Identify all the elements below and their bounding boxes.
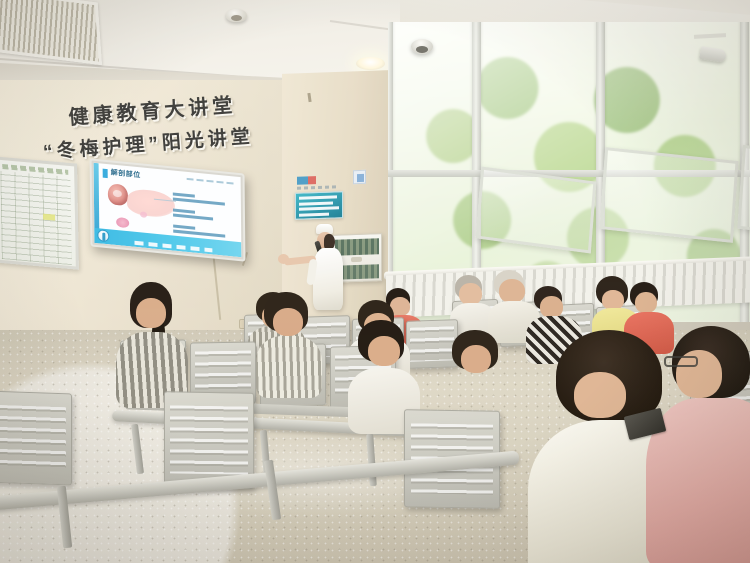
seat-back[interactable] (0, 390, 72, 485)
recessed-downlight (356, 57, 385, 70)
smoke-detector-icon (226, 9, 247, 22)
nurse-uniform-body (313, 248, 343, 310)
panel-knob (351, 257, 362, 262)
scene-photo: 健康教育大讲堂 “冬梅护理”阳光讲堂 解剖部位 (0, 0, 750, 563)
person-head (540, 296, 563, 318)
dome-security-camera-icon (411, 39, 433, 54)
anatomy-head-illustration (108, 183, 128, 206)
slide-title-marker (103, 169, 108, 179)
sign-line-4 (299, 212, 329, 216)
person-head (461, 345, 491, 373)
footer-caption-text (134, 241, 212, 253)
person-head (273, 308, 303, 336)
slide-bullet-1 (173, 193, 233, 207)
anatomy-marker-2 (140, 211, 147, 218)
nurse-pointing-hand (278, 254, 289, 264)
sign-line-3 (299, 206, 339, 210)
awning-window-panel-2[interactable] (599, 147, 738, 243)
sign-line-1 (299, 195, 337, 199)
slide-bullet-2 (173, 209, 233, 223)
eyeglasses-icon (664, 356, 698, 367)
seat-back[interactable] (406, 319, 458, 369)
chart-grid (0, 171, 72, 265)
tv-screen: 解剖部位 (94, 163, 242, 258)
anatomy-marker-1 (116, 217, 129, 228)
sign-header-strip (297, 175, 341, 185)
small-blue-wall-plate (353, 170, 366, 184)
sign-line-2 (299, 201, 333, 205)
presentation-tv[interactable]: 解剖部位 (90, 158, 246, 261)
person-head (499, 279, 525, 303)
person-head (136, 298, 166, 328)
person-head (602, 290, 624, 310)
anatomy-body-illustration (127, 188, 175, 219)
awning-window-panel-1[interactable] (476, 167, 597, 254)
person-torso (442, 372, 512, 430)
slide-subtitle-text (187, 178, 235, 185)
hospital-logo-icon (97, 229, 109, 242)
chart-highlight (43, 214, 55, 221)
person-head (574, 372, 626, 418)
framed-schedule-chart (0, 156, 79, 270)
slide-title: 解剖部位 (111, 167, 141, 180)
panel-display-upper (335, 238, 379, 256)
person-head (368, 336, 400, 366)
teal-information-sign (295, 191, 343, 220)
person-torso-striped (256, 336, 322, 398)
person-head (459, 283, 482, 305)
person-head (635, 292, 657, 313)
